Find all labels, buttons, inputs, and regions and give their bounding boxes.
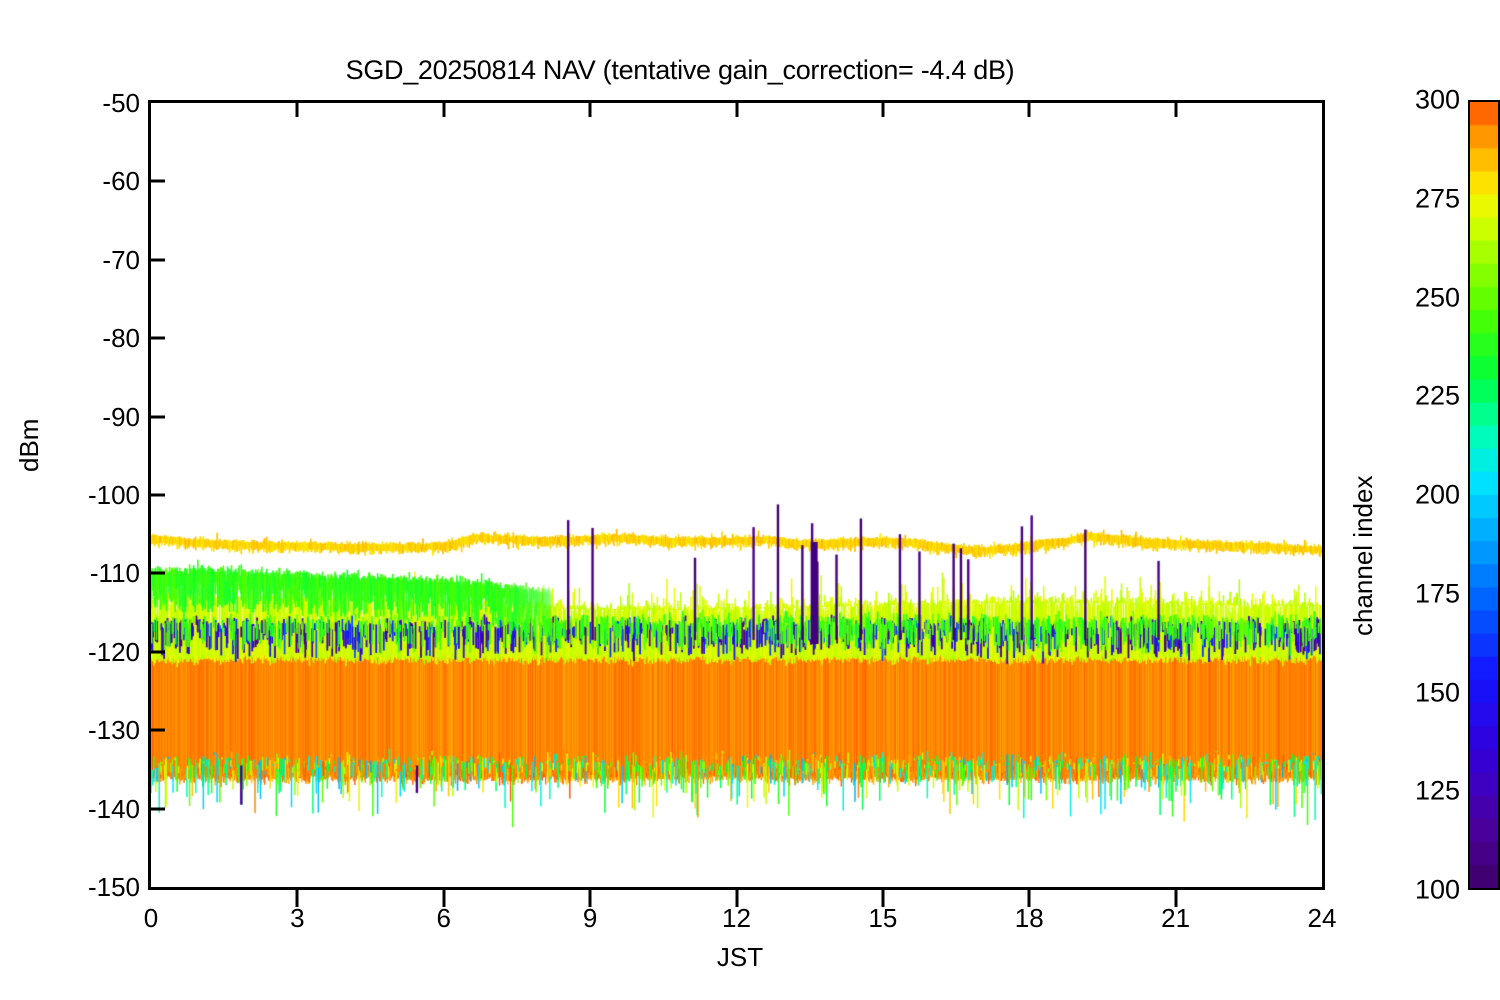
colorbar-tick-label: 275 <box>1350 185 1460 212</box>
colorbar-tick-label: 300 <box>1350 87 1460 114</box>
colorbar-tick-label: 250 <box>1350 284 1460 311</box>
colorbar-label: channel index <box>1348 476 1379 636</box>
colorbar-tick-label: 125 <box>1350 778 1460 805</box>
colorbar-tick-label: 100 <box>1350 877 1460 904</box>
chart-root: SGD_20250814 NAV (tentative gain_correct… <box>0 0 1500 1000</box>
colorbar-ticks: 100125150175200225250275300 <box>0 0 1500 1000</box>
colorbar-tick-label: 225 <box>1350 383 1460 410</box>
colorbar-tick-label: 150 <box>1350 679 1460 706</box>
